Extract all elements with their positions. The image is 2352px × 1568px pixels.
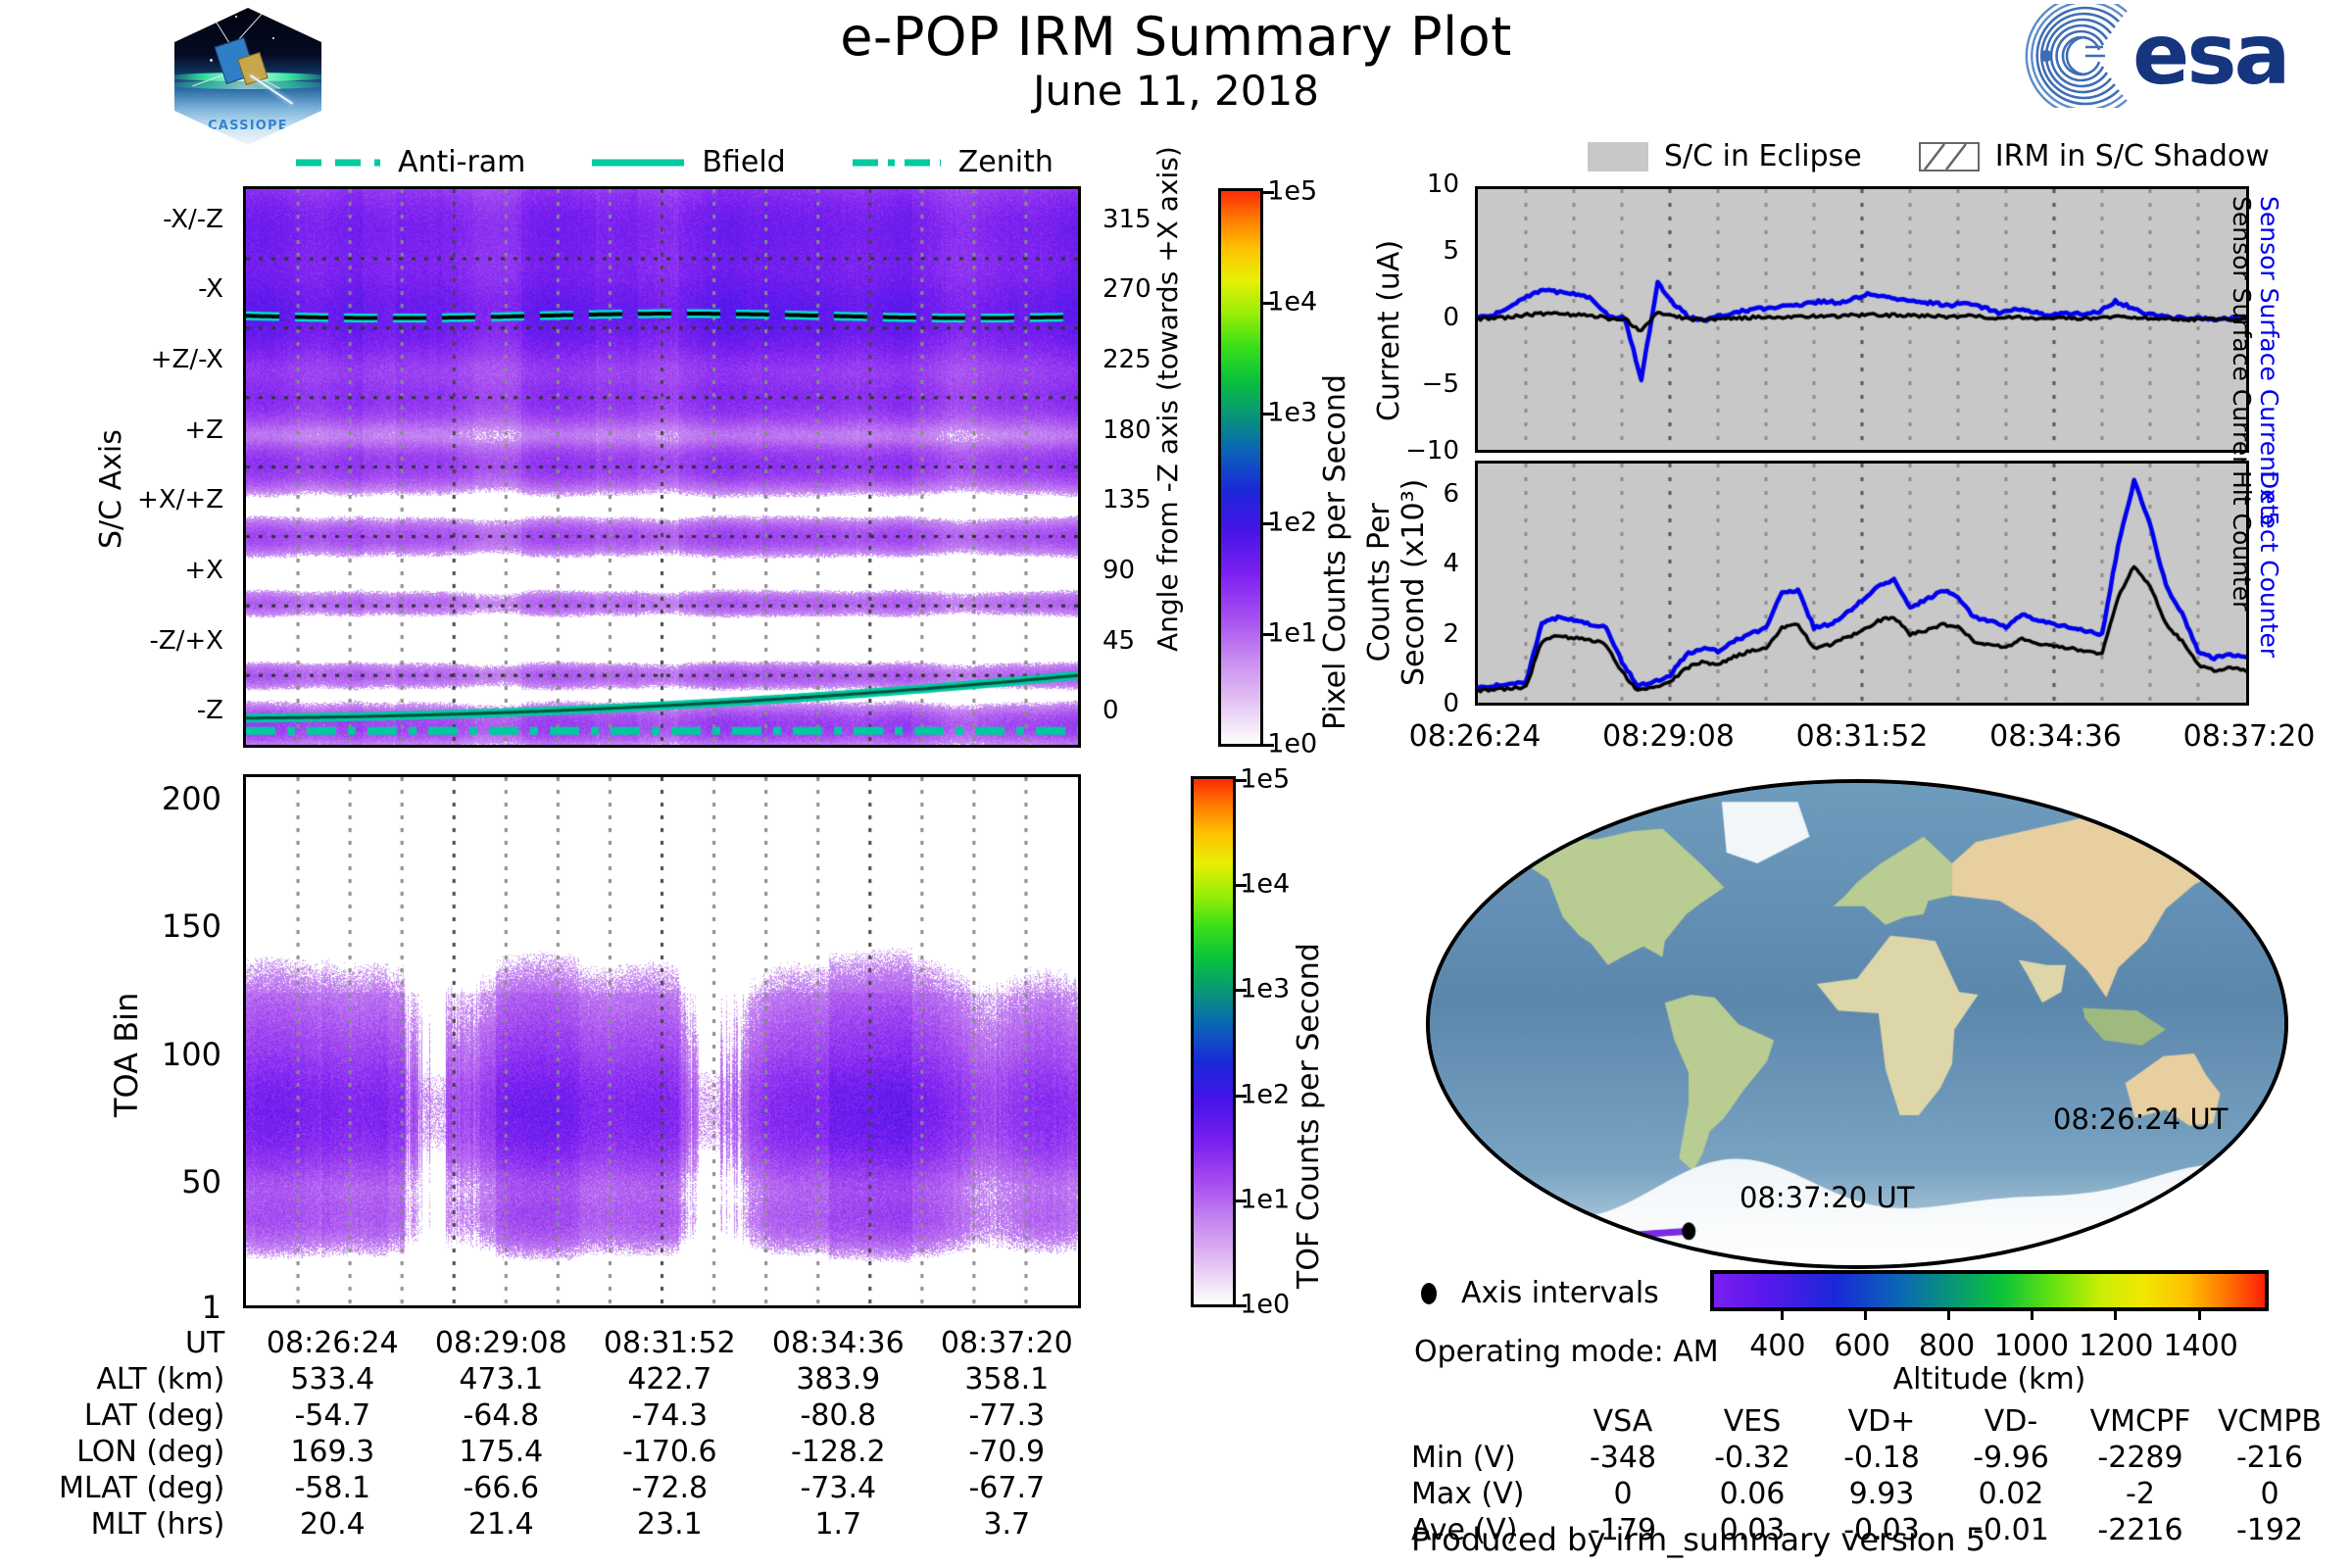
sc-axis-colorbar-label-3: 1e2 — [1267, 508, 1317, 538]
sc-axis-ytick-3: +Z — [184, 416, 223, 445]
sc-axis-right-ytick-7: 0 — [1102, 696, 1119, 725]
toa-bin-colorbar-label-3: 1e2 — [1240, 1079, 1290, 1109]
sc-axis-colorbar-label-5: 1e0 — [1267, 729, 1317, 759]
counts-ytick-3: 0 — [1443, 689, 1459, 718]
sc-axis-ytick-0: -X/-Z — [163, 205, 223, 234]
voltage-header-blank — [1411, 1403, 1558, 1440]
ephemeris-cell-5-1: 21.4 — [416, 1506, 585, 1543]
sc-axis-colorbar-label-0: 1e5 — [1267, 176, 1317, 207]
right-time-tick-1: 08:29:08 — [1602, 719, 1735, 754]
altitude-tick-5 — [2198, 1307, 2201, 1320]
ephemeris-row-label-0: UT — [59, 1325, 248, 1361]
sc-axis-right-ytick-1: 270 — [1102, 274, 1151, 304]
counts-per-second-panel[interactable] — [1475, 461, 2249, 706]
ephemeris-row: MLAT (deg)-58.1-66.6-72.8-73.4-67.7 — [59, 1470, 1091, 1506]
toa-bin-panel[interactable] — [243, 774, 1081, 1308]
map-marker-legend-label: Axis intervals — [1461, 1276, 1659, 1310]
ephemeris-cell-2-0: -54.7 — [248, 1397, 416, 1434]
sc-axis-colorbar-label: Pixel Counts per Second — [1318, 374, 1352, 730]
voltage-column-header-3: VD- — [1946, 1403, 2076, 1440]
toa-bin-ytick-3: 50 — [181, 1163, 221, 1200]
footer-produced-by: Produced by irm_summary version 5 — [1411, 1521, 1985, 1558]
sc-axis-right-axis-label: Angle from -Z axis (towards +X axis) — [1151, 146, 1184, 652]
ephemeris-cell-3-0: 169.3 — [248, 1434, 416, 1470]
right-time-tick-3: 08:34:36 — [1989, 719, 2122, 754]
ephemeris-cell-4-0: -58.1 — [248, 1470, 416, 1506]
voltage-cell-2-5: -192 — [2205, 1512, 2334, 1548]
voltage-row-label-0: Min (V) — [1411, 1440, 1558, 1476]
counts-ytick-1: 4 — [1443, 549, 1459, 578]
right-time-tick-0: 08:26:24 — [1409, 719, 1542, 754]
legend-label-bfield: Bfield — [702, 145, 785, 179]
altitude-colorbar — [1710, 1270, 2269, 1311]
toa-bin-ytick-1: 150 — [162, 907, 221, 945]
sc-axis-right-ytick-2: 225 — [1102, 345, 1151, 374]
ephemeris-row-label-1: ALT (km) — [59, 1361, 248, 1397]
toa-bin-ytick-0: 200 — [162, 780, 221, 817]
altitude-tick-label-1: 600 — [1835, 1329, 1890, 1363]
voltage-cell-1-2: 9.93 — [1817, 1476, 1946, 1512]
voltage-cell-0-0: -348 — [1558, 1440, 1688, 1476]
ephemeris-row-label-4: MLAT (deg) — [59, 1470, 248, 1506]
current-ytick-3: −5 — [1422, 369, 1459, 399]
voltage-column-header-2: VD+ — [1817, 1403, 1946, 1440]
sc-axis-right-ytick-5: 90 — [1102, 556, 1135, 585]
ephemeris-cell-2-2: -74.3 — [585, 1397, 754, 1434]
ephemeris-cell-0-0: 08:26:24 — [248, 1325, 416, 1361]
counts-plot-canvas[interactable] — [1478, 464, 2246, 703]
ephemeris-cell-5-2: 23.1 — [585, 1506, 754, 1543]
sc-axis-colorbar: 1e51e41e31e21e11e0 — [1218, 188, 1263, 747]
legend-label-anti-ram: Anti-ram — [398, 145, 525, 179]
current-ytick-0: 10 — [1427, 170, 1459, 199]
sc-axis-spectrogram-panel[interactable] — [243, 186, 1081, 748]
voltage-column-header-1: VES — [1688, 1403, 1817, 1440]
altitude-tick-4 — [2114, 1307, 2117, 1320]
sc-axis-right-ytick-0: 315 — [1102, 205, 1151, 234]
current-plot-canvas[interactable] — [1478, 189, 2246, 450]
sc-axis-right-ytick-6: 45 — [1102, 626, 1135, 656]
legend-label-zenith: Zenith — [958, 145, 1053, 179]
ephemeris-cell-1-2: 422.7 — [585, 1361, 754, 1397]
counts-ylabel-line2: Second (x10³) — [1396, 479, 1431, 686]
ephemeris-cell-3-2: -170.6 — [585, 1434, 754, 1470]
toa-bin-ytick-2: 100 — [162, 1036, 221, 1073]
sc-axis-colorbar-label-4: 1e1 — [1267, 618, 1317, 649]
toa-bin-canvas[interactable] — [246, 777, 1078, 1305]
ephemeris-cell-4-3: -73.4 — [754, 1470, 922, 1506]
ephemeris-cell-4-2: -72.8 — [585, 1470, 754, 1506]
voltage-cell-0-4: -2289 — [2076, 1440, 2205, 1476]
page-title: e-POP IRM Summary Plot — [0, 6, 2352, 68]
ephemeris-row-label-3: LON (deg) — [59, 1434, 248, 1470]
current-ytick-2: 0 — [1443, 303, 1459, 332]
legend-eclipse: S/C in Eclipse IRM in S/C Shadow — [1588, 139, 2270, 173]
legend-anti-ram-swatch — [294, 154, 384, 171]
voltage-cell-0-2: -0.18 — [1817, 1440, 1946, 1476]
ephemeris-cell-0-3: 08:34:36 — [754, 1325, 922, 1361]
sc-axis-ytick-1: -X — [198, 274, 223, 304]
toa-bin-colorbar-label-5: 1e0 — [1240, 1290, 1290, 1320]
counts-right-label-black: Hit Counter — [2228, 470, 2256, 611]
sc-axis-ylabel: S/C Axis — [94, 429, 128, 549]
toa-bin-colorbar-label-1: 1e4 — [1240, 869, 1290, 900]
altitude-tick-3 — [2031, 1307, 2033, 1320]
sc-axis-ytick-7: -Z — [197, 696, 223, 725]
voltage-row: Min (V)-348-0.32-0.18-9.96-2289-216 — [1411, 1440, 2334, 1476]
map-end-time-label: 08:37:20 UT — [1739, 1181, 1914, 1214]
voltage-row-label-1: Max (V) — [1411, 1476, 1558, 1512]
toa-bin-colorbar-label: TOF Counts per Second — [1292, 943, 1326, 1289]
ephemeris-cell-5-4: 3.7 — [922, 1506, 1091, 1543]
voltage-cell-2-4: -2216 — [2076, 1512, 2205, 1548]
ephemeris-cell-2-1: -64.8 — [416, 1397, 585, 1434]
shadow-hatch-swatch — [1919, 142, 1980, 171]
sc-axis-right-ytick-4: 135 — [1102, 485, 1151, 514]
ephemeris-cell-3-4: -70.9 — [922, 1434, 1091, 1470]
ephemeris-cell-1-3: 383.9 — [754, 1361, 922, 1397]
map-start-time-label: 08:26:24 UT — [2053, 1102, 2228, 1136]
sc-axis-ytick-4: +X/+Z — [137, 485, 223, 514]
voltage-cell-1-3: 0.02 — [1946, 1476, 2076, 1512]
ephemeris-cell-1-0: 533.4 — [248, 1361, 416, 1397]
legend-sc-axis: Anti-ram Bfield Zenith — [294, 145, 1053, 179]
counts-ylabel-line1: Counts Per — [1362, 479, 1396, 686]
map-marker-legend: Axis intervals — [1418, 1276, 1659, 1310]
counts-ylabel: Counts Per Second (x10³) — [1362, 479, 1431, 686]
toa-bin-ylabel: TOA Bin — [108, 993, 145, 1117]
ephemeris-cell-2-3: -80.8 — [754, 1397, 922, 1434]
altitude-colorbar-label: Altitude (km) — [1710, 1362, 2269, 1396]
ephemeris-row-label-5: MLT (hrs) — [59, 1506, 248, 1543]
ephemeris-cell-0-1: 08:29:08 — [416, 1325, 585, 1361]
sc-axis-ytick-6: -Z/+X — [149, 626, 223, 656]
ephemeris-row-label-2: LAT (deg) — [59, 1397, 248, 1434]
sc-axis-colorbar-label-1: 1e4 — [1267, 286, 1317, 317]
voltage-cell-0-3: -9.96 — [1946, 1440, 2076, 1476]
altitude-tick-label-4: 1200 — [2079, 1329, 2153, 1363]
voltage-column-header-4: VMCPF — [2076, 1403, 2205, 1440]
current-ylabel: Current (uA) — [1372, 240, 1406, 421]
esa-logo: esa — [2017, 4, 2340, 110]
current-ytick-4: −10 — [1405, 436, 1459, 465]
ephemeris-row: LON (deg)169.3175.4-170.6-128.2-70.9 — [59, 1434, 1091, 1470]
toa-bin-colorbar-label-0: 1e5 — [1240, 764, 1290, 795]
ephemeris-cell-4-4: -67.7 — [922, 1470, 1091, 1506]
eclipse-swatch — [1588, 142, 1648, 171]
toa-bin-ytick-4: 1 — [202, 1289, 221, 1326]
ephemeris-cell-4-1: -66.6 — [416, 1470, 585, 1506]
sc-axis-colorbar-label-2: 1e3 — [1267, 397, 1317, 427]
altitude-tick-1 — [1864, 1307, 1867, 1320]
ephemeris-cell-0-2: 08:31:52 — [585, 1325, 754, 1361]
current-ytick-1: 5 — [1443, 236, 1459, 266]
ephemeris-cell-5-0: 20.4 — [248, 1506, 416, 1543]
voltage-column-header-5: VCMPB — [2205, 1403, 2334, 1440]
ephemeris-row: LAT (deg)-54.7-64.8-74.3-80.8-77.3 — [59, 1397, 1091, 1434]
sc-axis-ytick-5: +X — [184, 556, 223, 585]
mission-patch-label: CASSIOPE — [174, 119, 321, 133]
ephemeris-row: ALT (km)533.4473.1422.7383.9358.1 — [59, 1361, 1091, 1397]
right-time-tick-4: 08:37:20 — [2183, 719, 2316, 754]
altitude-tick-label-0: 400 — [1749, 1329, 1805, 1363]
voltage-cell-1-5: 0 — [2205, 1476, 2334, 1512]
right-time-tick-2: 08:31:52 — [1796, 719, 1929, 754]
voltage-cell-0-1: -0.32 — [1688, 1440, 1817, 1476]
ephemeris-table: UT08:26:2408:29:0808:31:5208:34:3608:37:… — [59, 1325, 1091, 1543]
voltage-header-row: VSAVESVD+VD-VMCPFVCMPB — [1411, 1403, 2334, 1440]
legend-bfield-swatch — [590, 154, 688, 171]
sc-axis-right-ytick-3: 180 — [1102, 416, 1151, 445]
sc-axis-spectrogram-canvas[interactable] — [246, 189, 1078, 745]
voltage-cell-1-0: 0 — [1558, 1476, 1688, 1512]
page-subtitle: June 11, 2018 — [0, 67, 2352, 115]
altitude-tick-label-2: 800 — [1919, 1329, 1975, 1363]
ephemeris-cell-5-3: 1.7 — [754, 1506, 922, 1543]
legend-label-irm-shadow: IRM in S/C Shadow — [1995, 139, 2270, 173]
voltage-cell-0-5: -216 — [2205, 1440, 2334, 1476]
sc-axis-ytick-2: +Z/-X — [151, 345, 223, 374]
axis-interval-dot-icon — [1418, 1281, 1440, 1306]
ephemeris-row: UT08:26:2408:29:0808:31:5208:34:3608:37:… — [59, 1325, 1091, 1361]
altitude-tick-0 — [1781, 1307, 1784, 1320]
operating-mode-label: Operating mode: AM — [1414, 1335, 1719, 1369]
ephemeris-cell-0-4: 08:37:20 — [922, 1325, 1091, 1361]
toa-bin-colorbar-label-4: 1e1 — [1240, 1184, 1290, 1214]
altitude-tick-2 — [1947, 1307, 1950, 1320]
legend-label-eclipse: S/C in Eclipse — [1664, 139, 1862, 173]
counts-ytick-2: 2 — [1443, 619, 1459, 649]
current-right-label-black: Sensor Surface Current — [2228, 196, 2256, 481]
altitude-tick-label-3: 1000 — [1994, 1329, 2069, 1363]
legend-zenith-swatch — [851, 154, 945, 171]
toa-bin-colorbar: 1e51e41e31e21e11e0 — [1191, 776, 1236, 1307]
esa-wordmark: esa — [2132, 6, 2288, 104]
counts-ytick-0: 6 — [1443, 479, 1459, 509]
altitude-tick-label-5: 1400 — [2163, 1329, 2237, 1363]
ephemeris-cell-3-1: 175.4 — [416, 1434, 585, 1470]
ephemeris-cell-1-4: 358.1 — [922, 1361, 1091, 1397]
sensor-surface-current-panel[interactable] — [1475, 186, 2249, 453]
voltage-column-header-0: VSA — [1558, 1403, 1688, 1440]
ephemeris-cell-1-1: 473.1 — [416, 1361, 585, 1397]
ephemeris-row: MLT (hrs)20.421.423.11.73.7 — [59, 1506, 1091, 1543]
voltage-row: Max (V)00.069.930.02-20 — [1411, 1476, 2334, 1512]
ephemeris-cell-2-4: -77.3 — [922, 1397, 1091, 1434]
ephemeris-cell-3-3: -128.2 — [754, 1434, 922, 1470]
voltage-cell-1-4: -2 — [2076, 1476, 2205, 1512]
voltage-cell-1-1: 0.06 — [1688, 1476, 1817, 1512]
counts-right-label-blue: Detect Counter — [2255, 470, 2283, 658]
toa-bin-colorbar-label-2: 1e3 — [1240, 974, 1290, 1004]
cassiope-mission-patch-icon: CASSIOPE — [174, 8, 331, 155]
